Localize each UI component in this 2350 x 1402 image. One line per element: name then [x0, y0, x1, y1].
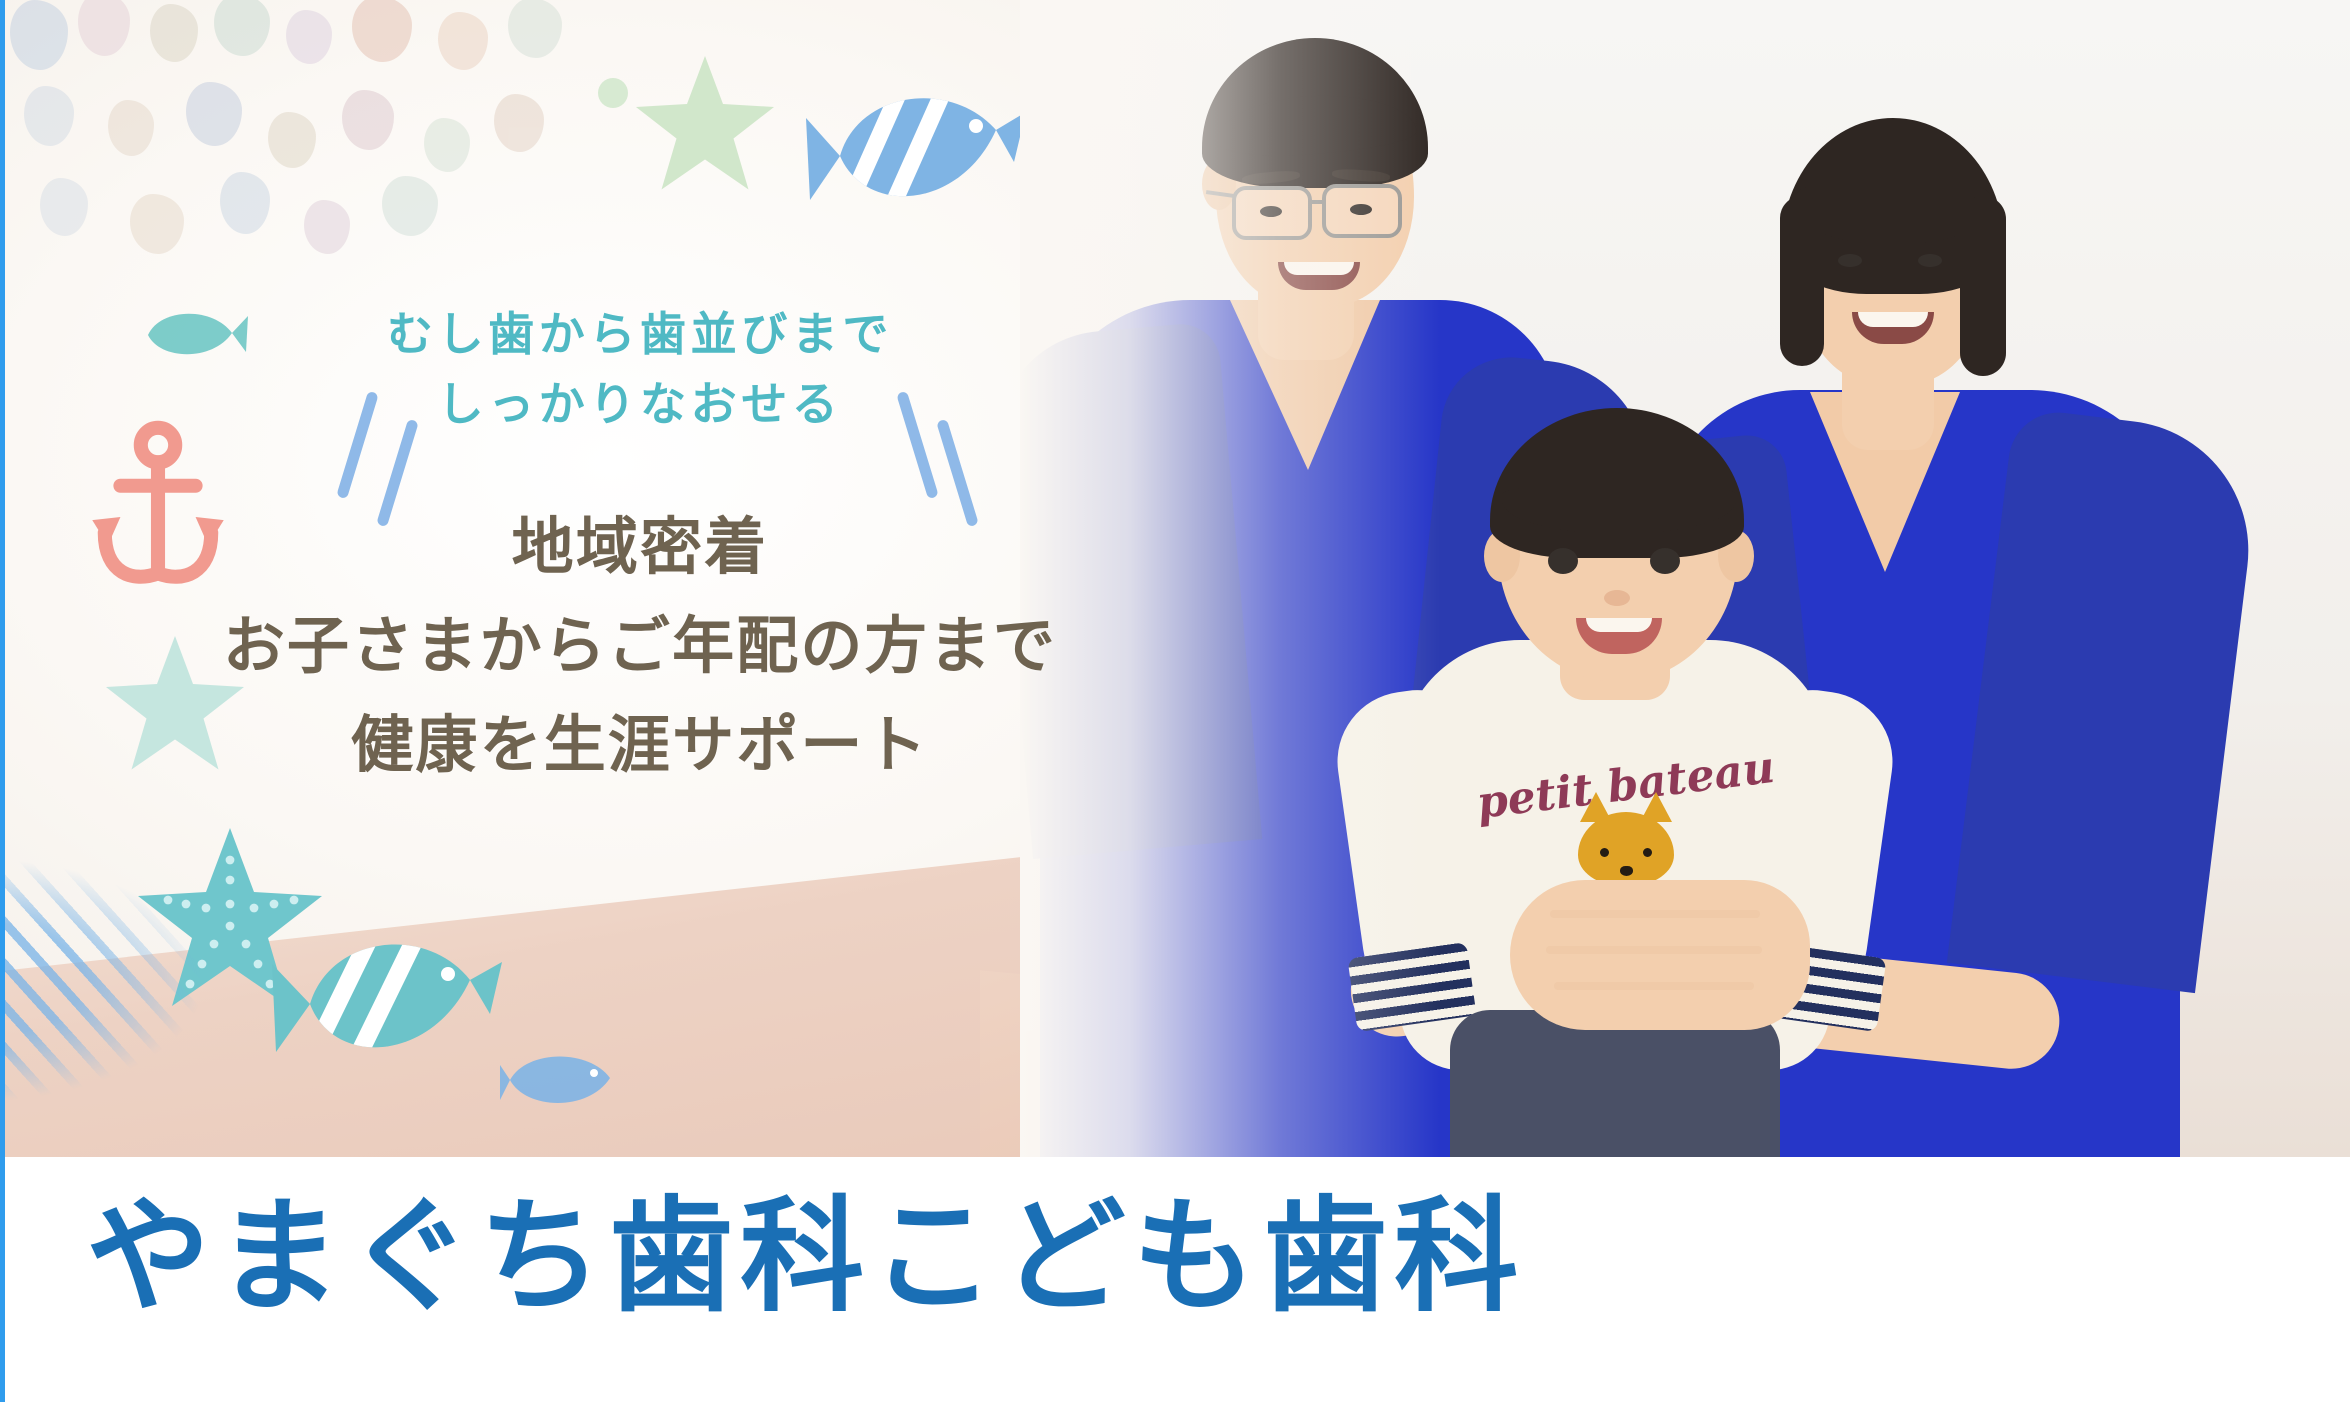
- finger-crease-3: [1554, 982, 1754, 990]
- finger-crease-1: [1550, 910, 1760, 918]
- hero-headline-line3: 健康を生涯サポート: [150, 696, 1130, 795]
- hero-tagline: むし歯から歯並びまで しっかりなおせる: [150, 300, 1130, 440]
- stripe-fan-decoration: [0, 860, 200, 1100]
- hygienist-eye-right: [1918, 254, 1942, 267]
- hygienist-eye-left: [1838, 254, 1862, 267]
- clinic-name: やまぐち歯科こども歯科: [86, 1195, 1525, 1319]
- striped-fish-icon: [800, 60, 1030, 240]
- hero-headline-line2: お子さまからご年配の方まで: [150, 597, 1130, 696]
- child-eye-right: [1650, 548, 1680, 574]
- child-nose: [1604, 590, 1630, 606]
- left-accent-rail: [0, 0, 5, 1402]
- child-eye-left: [1548, 548, 1578, 574]
- clasped-hands: [1510, 880, 1810, 1030]
- page-root: むし歯から歯並びまで しっかりなおせる 地域密着 お子さまからご年配の方まで 健…: [0, 0, 2350, 1402]
- hero-copy: むし歯から歯並びまで しっかりなおせる 地域密着 お子さまからご年配の方まで 健…: [150, 300, 1130, 795]
- starfish-icon: [630, 50, 780, 200]
- child-teeth: [1586, 618, 1652, 632]
- bubble-dot: [598, 78, 628, 108]
- hygienist-hair-side-right: [1960, 196, 2006, 376]
- finger-crease-2: [1546, 946, 1762, 954]
- child-trousers: [1450, 1010, 1780, 1157]
- hero-headline: 地域密着 お子さまからご年配の方まで 健康を生涯サポート: [150, 498, 1130, 796]
- small-fish-icon: [500, 1040, 630, 1120]
- hero-headline-line1: 地域密着: [150, 498, 1130, 597]
- hygienist-hair-side-left: [1780, 196, 1824, 366]
- striped-fish-icon: [258, 900, 508, 1090]
- hero-tagline-line1: むし歯から歯並びまで: [150, 300, 1130, 370]
- hero-photo: petit bateau: [1020, 0, 2350, 1157]
- hero-banner: むし歯から歯並びまで しっかりなおせる 地域密着 お子さまからご年配の方まで 健…: [0, 0, 2350, 1157]
- wall-stickers-cluster: [0, 0, 640, 320]
- hero-tagline-line2: しっかりなおせる: [150, 370, 1130, 440]
- clinic-name-band: やまぐち歯科こども歯科: [0, 1157, 2350, 1402]
- hygienist-teeth: [1858, 312, 1928, 327]
